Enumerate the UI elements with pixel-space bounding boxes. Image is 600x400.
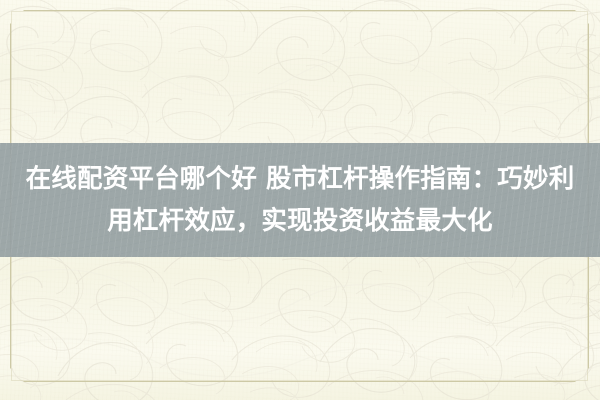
title-overlay-band: 在线配资平台哪个好 股市杠杆操作指南：巧妙利用杠杆效应，实现投资收益最大化 (0, 143, 600, 257)
article-title-card: 在线配资平台哪个好 股市杠杆操作指南：巧妙利用杠杆效应，实现投资收益最大化 (0, 0, 600, 400)
page-title: 在线配资平台哪个好 股市杠杆操作指南：巧妙利用杠杆效应，实现投资收益最大化 (24, 158, 576, 242)
